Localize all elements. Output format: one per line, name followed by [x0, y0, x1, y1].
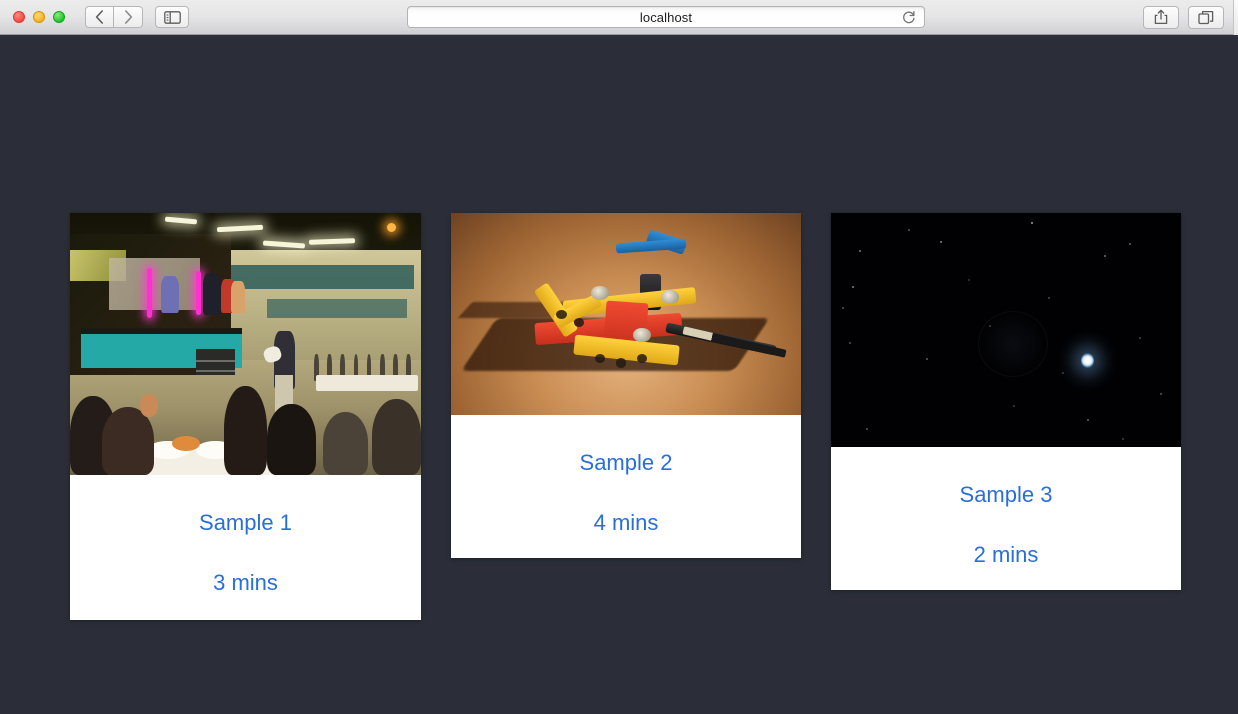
bright-star — [1081, 353, 1094, 368]
card-thumbnail[interactable] — [451, 213, 801, 415]
card-thumbnail[interactable] — [831, 213, 1181, 447]
audience-head — [102, 407, 155, 475]
show-tabs-button[interactable] — [1188, 6, 1224, 29]
card-duration[interactable]: 2 mins — [841, 543, 1171, 567]
decor-wall — [109, 258, 200, 310]
address-bar-text: localhost — [640, 10, 692, 25]
reload-icon — [902, 10, 916, 25]
back-button[interactable] — [85, 6, 114, 28]
close-window-button[interactable] — [13, 11, 25, 23]
performer — [203, 273, 221, 315]
performer — [161, 276, 179, 313]
card-body: Sample 3 2 mins — [831, 447, 1181, 589]
maximize-window-button[interactable] — [53, 11, 65, 23]
card-title[interactable]: Sample 2 — [461, 451, 791, 475]
performer — [231, 281, 245, 312]
wall-band — [224, 265, 414, 289]
toolbar-edge-sliver — [1233, 0, 1238, 35]
audience-head — [267, 404, 316, 475]
share-button[interactable] — [1143, 6, 1179, 29]
card-title[interactable]: Sample 1 — [80, 511, 411, 535]
card-body: Sample 1 3 mins — [70, 475, 421, 617]
browser-toolbar: localhost — [0, 0, 1238, 35]
lego-pin — [661, 290, 679, 304]
video-card[interactable]: Sample 1 3 mins — [70, 213, 421, 620]
back-tables — [316, 375, 418, 391]
navigation-buttons — [85, 6, 143, 28]
chevron-left-icon — [95, 10, 104, 24]
reload-button[interactable] — [902, 10, 916, 30]
audience-head — [323, 412, 369, 475]
forward-button[interactable] — [114, 6, 143, 28]
page-content: Sample 1 3 mins — [0, 35, 1238, 714]
neon-light — [147, 268, 152, 318]
beam-hole — [574, 318, 585, 327]
lego-model-photo — [451, 213, 801, 415]
tabs-icon — [1198, 10, 1214, 25]
neon-light — [196, 271, 201, 316]
faint-nebula — [978, 311, 1048, 377]
chevron-right-icon — [124, 10, 133, 24]
card-title[interactable]: Sample 3 — [841, 483, 1171, 507]
video-card[interactable]: Sample 3 2 mins — [831, 213, 1181, 590]
window-controls — [8, 11, 65, 23]
share-icon — [1154, 9, 1168, 25]
sidebar-icon — [164, 11, 181, 24]
card-thumbnail[interactable] — [70, 213, 421, 475]
card-body: Sample 2 4 mins — [451, 415, 801, 557]
gym-event-photo — [70, 213, 421, 475]
raised-hand — [140, 394, 158, 418]
address-bar-container: localhost — [189, 6, 1143, 28]
minimize-window-button[interactable] — [33, 11, 45, 23]
audience-head — [224, 386, 266, 475]
lego-pin — [591, 286, 609, 300]
card-duration[interactable]: 3 mins — [80, 571, 411, 595]
wall-band-2 — [267, 299, 407, 317]
address-bar[interactable]: localhost — [407, 6, 925, 28]
sidebar-toggle-button[interactable] — [155, 6, 189, 28]
card-duration[interactable]: 4 mins — [461, 511, 791, 535]
audience-head — [372, 399, 421, 475]
beam-hole — [556, 310, 567, 319]
beam-hole — [616, 358, 627, 367]
stage-steps — [196, 349, 235, 375]
lego-pin — [633, 328, 651, 342]
night-sky-photo — [831, 213, 1181, 447]
video-card[interactable]: Sample 2 4 mins — [451, 213, 801, 558]
toolbar-right-buttons — [1143, 6, 1224, 29]
